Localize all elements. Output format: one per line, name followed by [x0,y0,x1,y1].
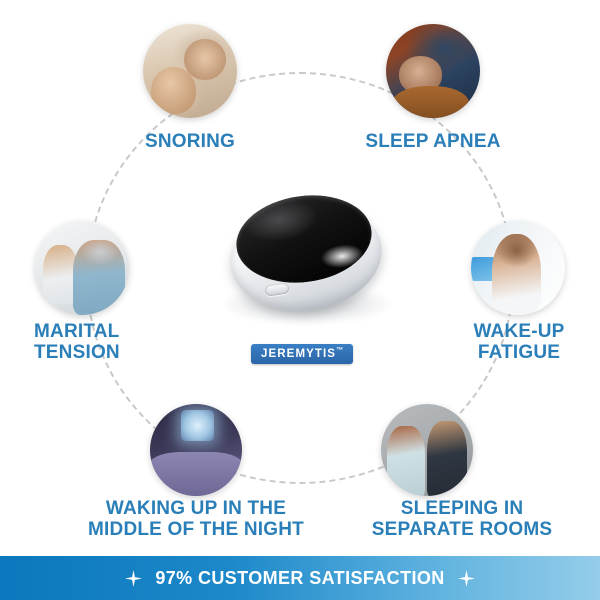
benefit-label-marital-tension: MARITAL TENSION [34,322,174,363]
brand-name: JEREMYTIS [261,348,336,360]
satisfaction-banner: 97% CUSTOMER SATISFACTION [0,556,600,600]
benefit-photo-sleep-apnea [386,24,480,118]
benefit-label-waking-at-night: WAKING UP IN THE MIDDLE OF THE NIGHT [76,499,316,540]
benefit-photo-wake-up-fatigue [471,221,565,315]
benefit-label-sleep-apnea: SLEEP APNEA [358,132,508,153]
brand-badge: JEREMYTIS™ [251,344,353,364]
couple-turned-away-photo [381,404,473,496]
person-awake-with-alarm-clock-photo [150,404,242,496]
benefit-photo-marital-tension [35,221,129,315]
trademark-symbol: ™ [336,347,343,354]
sleep-aid-device-image [218,188,394,338]
yawning-woman-photo [471,221,565,315]
benefit-photo-waking-at-night [150,404,242,496]
couple-in-bed-snoring-photo [143,24,237,118]
sparkle-icon [458,570,475,587]
benefit-label-snoring: SNORING [120,132,260,153]
benefit-photo-separate-rooms [381,404,473,496]
benefit-label-separate-rooms: SLEEPING IN SEPARATE ROOMS [352,499,572,540]
satisfaction-text: 97% CUSTOMER SATISFACTION [155,568,444,589]
man-with-cpap-mask-photo [386,24,480,118]
sparkle-icon [125,570,142,587]
distressed-couple-photo [35,221,129,315]
benefit-label-wake-up-fatigue: WAKE-UP FATIGUE [456,322,582,363]
product-benefits-infographic: SNORING SLEEP APNEA WAKE-UP FATIGUE MARI… [0,0,600,600]
benefit-photo-snoring [143,24,237,118]
